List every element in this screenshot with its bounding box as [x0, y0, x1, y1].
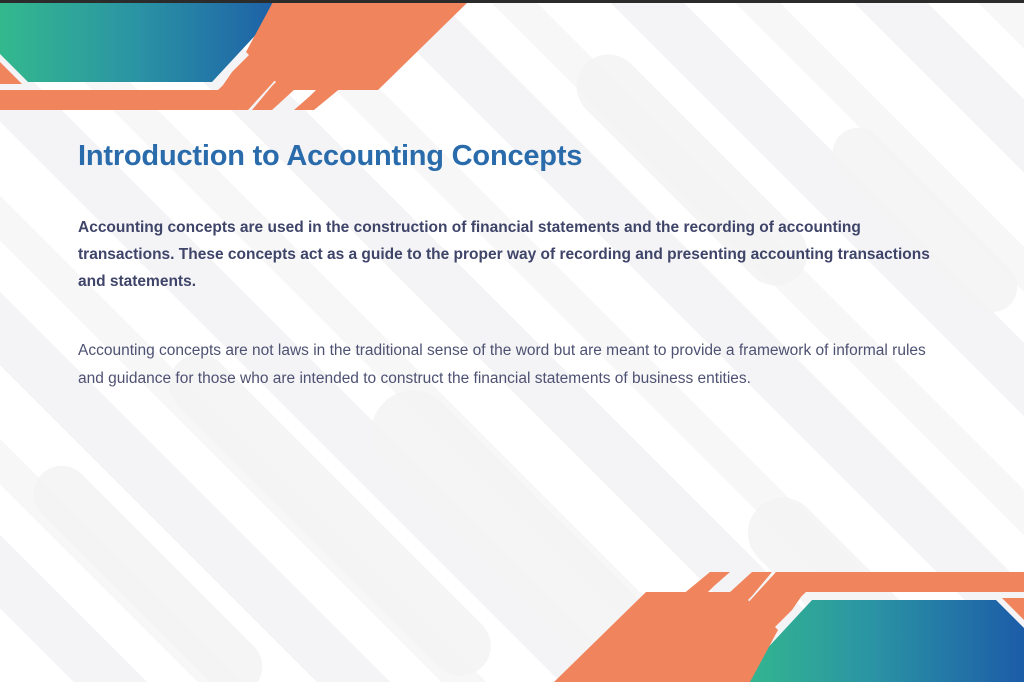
body-paragraph: Accounting concepts are not laws in the … — [78, 337, 950, 392]
page-title: Introduction to Accounting Concepts — [78, 140, 958, 173]
slide-content: Introduction to Accounting Concepts Acco… — [78, 140, 958, 392]
orange-parallelogram-shape — [246, 0, 470, 90]
bottom-right-decoration — [524, 564, 1024, 682]
slide-canvas: Introduction to Accounting Concepts Acco… — [0, 0, 1024, 682]
orange-parallelogram-shape — [554, 592, 778, 682]
top-left-decoration — [0, 0, 500, 118]
top-hairline-rule — [0, 0, 1024, 3]
lead-paragraph: Accounting concepts are used in the cons… — [78, 215, 950, 295]
